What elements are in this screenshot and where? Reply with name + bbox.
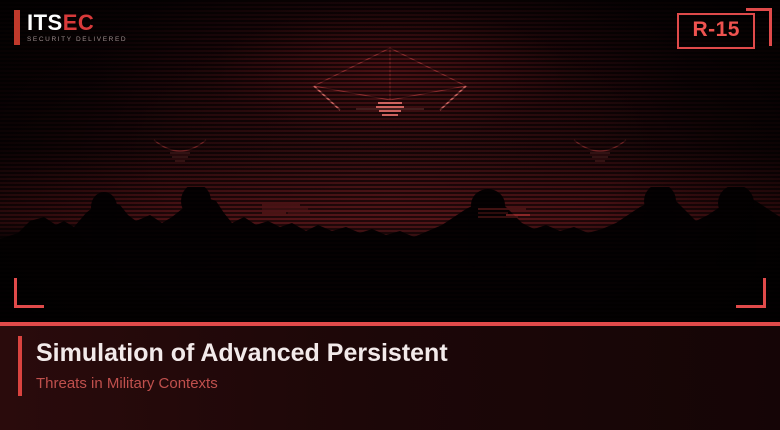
title-divider <box>0 322 780 326</box>
logo-text-group: ITSEC SECURITY DELIVERED <box>27 10 127 45</box>
page-subtitle: Threats in Military Contexts <box>36 372 448 396</box>
itsec-logo[interactable]: ITSEC SECURITY DELIVERED <box>14 10 127 45</box>
drone-left-icon <box>148 132 212 166</box>
corner-bracket-bottom-right <box>736 278 766 308</box>
scanline-overlay <box>0 0 780 322</box>
logo-word-accent: EC <box>63 10 95 35</box>
glitch-bars-right <box>478 208 526 220</box>
slide-number-badge[interactable]: R-15 <box>677 13 755 49</box>
logo-word-primary: ITS <box>27 10 63 35</box>
title-accent-bar <box>18 336 22 396</box>
soldier-silhouette-icon <box>0 187 780 322</box>
title-panel: Simulation of Advanced Persistent Threat… <box>0 326 780 430</box>
drone-right-icon <box>568 132 632 166</box>
presentation-slide: ITSEC SECURITY DELIVERED R-15 Simulation… <box>0 0 780 430</box>
vignette-overlay <box>0 0 780 322</box>
logo-accent-bar <box>14 10 20 45</box>
logo-tagline: SECURITY DELIVERED <box>27 35 127 45</box>
hero-image <box>0 0 780 322</box>
horizon-haze <box>0 150 780 240</box>
title-texts: Simulation of Advanced Persistent Threat… <box>36 336 448 396</box>
glitch-bar-left-accent <box>288 212 310 216</box>
glitch-bar-right-accent <box>506 214 530 218</box>
corner-bracket-bottom-left <box>14 278 44 308</box>
page-title: Simulation of Advanced Persistent <box>36 336 448 370</box>
title-block: Simulation of Advanced Persistent Threat… <box>18 336 448 396</box>
aircraft-silhouette-icon <box>300 44 480 124</box>
logo-wordmark: ITSEC <box>27 11 127 35</box>
glitch-bars-left <box>262 204 308 216</box>
slide-number-label: R-15 <box>692 18 740 42</box>
